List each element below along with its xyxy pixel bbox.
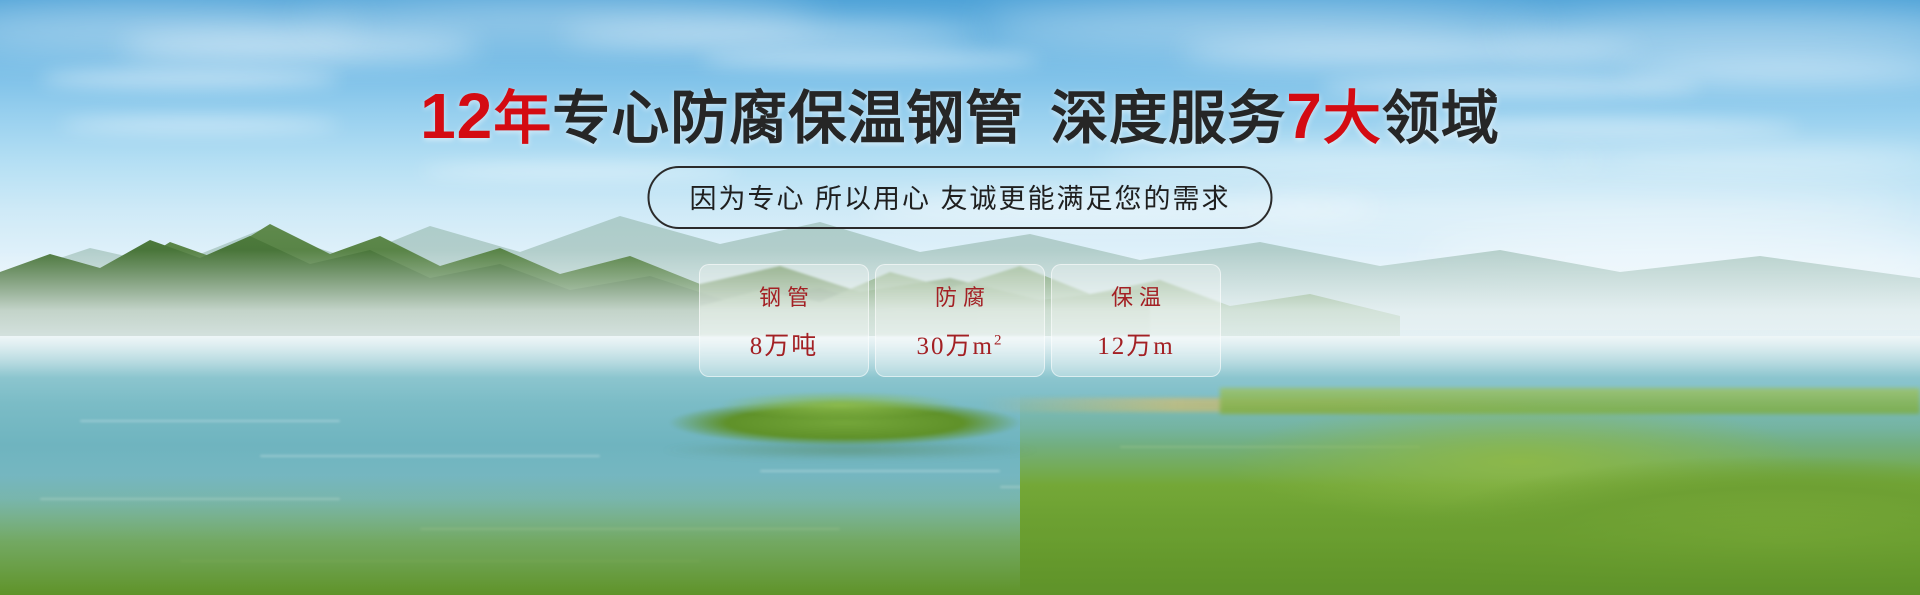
headline-years-unit: 年	[493, 86, 552, 151]
banner-headline: 12年专心防腐保温钢管深度服务7大领域	[0, 84, 1920, 148]
stat-card-label: 保温	[1105, 280, 1167, 312]
banner-subtitle-text: 因为专心 所以用心 友诚更能满足您的需求	[689, 184, 1230, 214]
stat-card-value: 8万吨	[750, 326, 819, 362]
hero-banner: 12年专心防腐保温钢管深度服务7大领域 因为专心 所以用心 友诚更能满足您的需求…	[0, 0, 1920, 595]
stat-card-anticorrosion: 防腐 30万m2	[875, 264, 1045, 377]
banner-content: 12年专心防腐保温钢管深度服务7大领域 因为专心 所以用心 友诚更能满足您的需求…	[0, 0, 1920, 595]
stat-card-value-superscript: 2	[994, 332, 1004, 348]
stat-card-steel-pipe: 钢管 8万吨	[699, 264, 869, 377]
stat-card-label: 防腐	[929, 280, 991, 312]
stat-card-group: 钢管 8万吨 防腐 30万m2 保温 12万m	[699, 264, 1221, 377]
headline-service-text: 深度服务	[1050, 86, 1286, 151]
headline-fields-unit: 大	[1323, 86, 1382, 151]
stat-card-label: 钢管	[753, 280, 815, 312]
headline-fields-number: 7	[1286, 80, 1323, 152]
headline-main-text: 专心防腐保温钢管	[552, 86, 1024, 151]
headline-years-number: 12	[420, 80, 493, 152]
stat-card-value: 12万m	[1097, 326, 1174, 362]
headline-fields-text: 领域	[1382, 86, 1500, 151]
banner-subtitle-pill: 因为专心 所以用心 友诚更能满足您的需求	[647, 166, 1272, 229]
stat-card-value-text: 8万吨	[750, 333, 819, 360]
stat-card-value-text: 30万m	[917, 333, 994, 360]
stat-card-value-text: 12万m	[1097, 333, 1174, 360]
stat-card-value: 30万m2	[917, 326, 1004, 362]
stat-card-insulation: 保温 12万m	[1051, 264, 1221, 377]
